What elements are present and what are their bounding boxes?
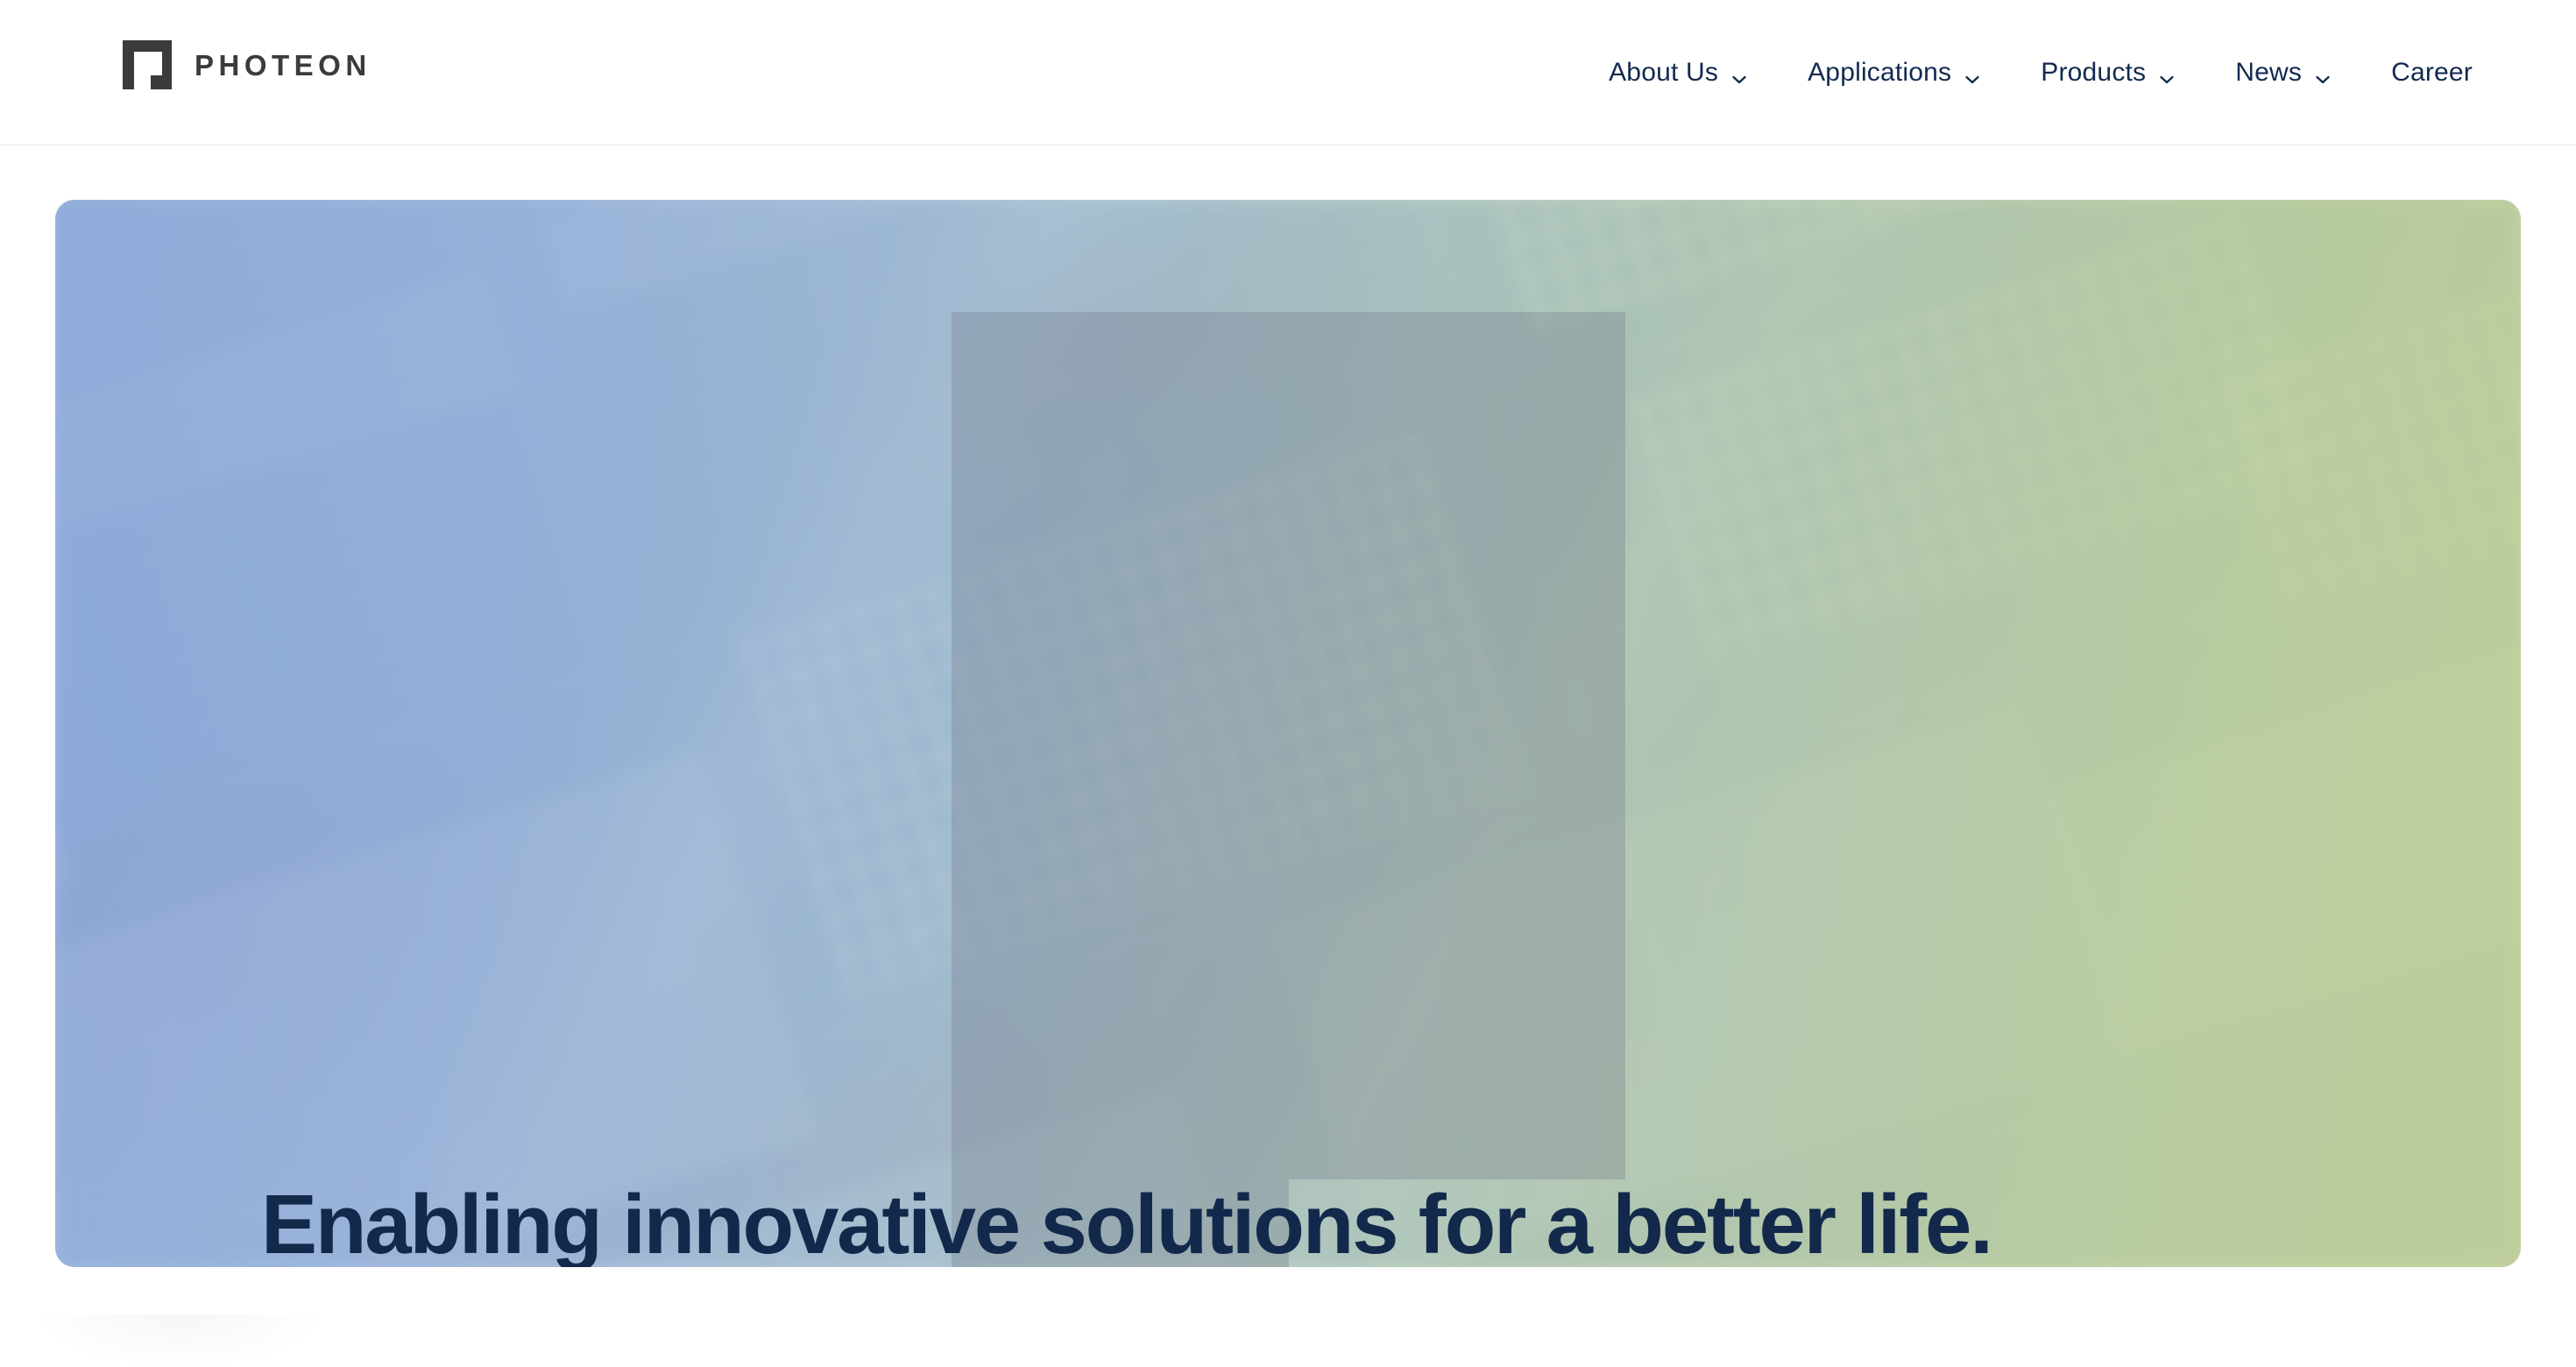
nav-item-products[interactable]: Products: [2011, 58, 2205, 88]
photeon-logo-icon: [123, 40, 172, 89]
site-header: PHOTEON About Us Applications Products N…: [0, 0, 2576, 145]
nav-label-news: News: [2235, 58, 2302, 88]
nav-item-news[interactable]: News: [2205, 58, 2361, 88]
hero-banner: Enabling innovative solutions for a bett…: [55, 200, 2521, 1267]
main-navigation: About Us Applications Products News Care: [1579, 0, 2473, 145]
nav-item-career[interactable]: Career: [2361, 58, 2473, 88]
nav-label-career: Career: [2391, 58, 2473, 88]
nav-label-products: Products: [2041, 58, 2146, 88]
nav-label-applications: Applications: [1808, 58, 1951, 88]
brand-logo[interactable]: PHOTEON: [123, 40, 372, 89]
chevron-down-icon: [1730, 66, 1748, 83]
nav-item-applications[interactable]: Applications: [1778, 58, 2011, 88]
hero-headline: Enabling innovative solutions for a bett…: [261, 1183, 1992, 1267]
page-bottom-shadow: [35, 1314, 324, 1367]
hero-panel-upper: [952, 312, 1625, 1179]
chevron-down-icon: [2158, 66, 2176, 83]
brand-wordmark: PHOTEON: [195, 51, 372, 80]
nav-item-about-us[interactable]: About Us: [1579, 58, 1778, 88]
chevron-down-icon: [2314, 66, 2332, 83]
nav-label-about-us: About Us: [1609, 58, 1718, 88]
chevron-down-icon: [1964, 66, 1981, 83]
